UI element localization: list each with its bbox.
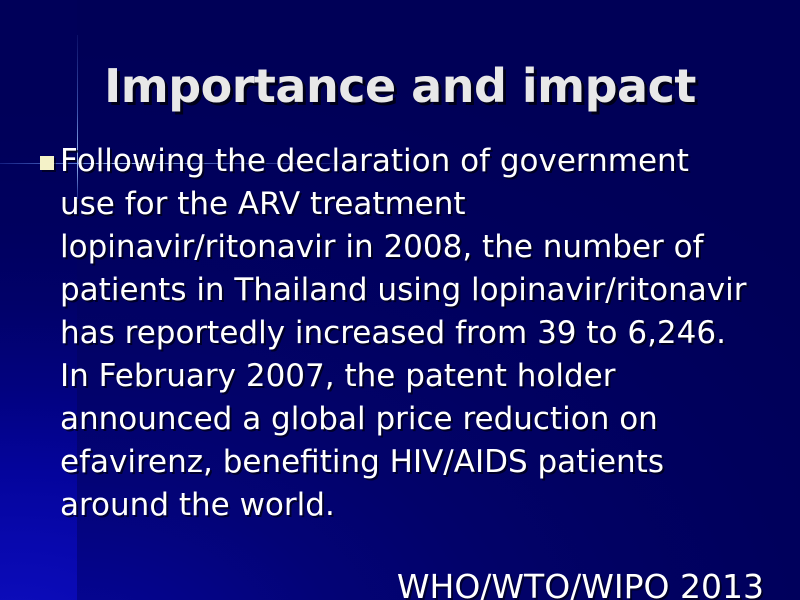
slide-footer: WHO/WTO/WIPO 2013 — [0, 567, 764, 600]
body-line: patients in Thailand using lopinavir/rit… — [60, 269, 760, 312]
body-line: Following the declaration of government — [60, 140, 760, 183]
slide-body-text: Following the declaration of government … — [60, 140, 760, 527]
presentation-slide: Importance and impact Following the decl… — [0, 0, 800, 600]
body-line: use for the ARV treatment — [60, 183, 760, 226]
slide-title: Importance and impact — [0, 58, 800, 114]
body-line: In February 2007, the patent holder — [60, 355, 760, 398]
body-line: lopinavir/ritonavir in 2008, the number … — [60, 226, 760, 269]
square-bullet-icon — [40, 156, 54, 170]
body-line: around the world. — [60, 484, 760, 527]
body-line: has reportedly increased from 39 to 6,24… — [60, 312, 760, 355]
body-line: announced a global price reduction on — [60, 398, 760, 441]
body-line: efavirenz, benefiting HIV/AIDS patients — [60, 441, 760, 484]
